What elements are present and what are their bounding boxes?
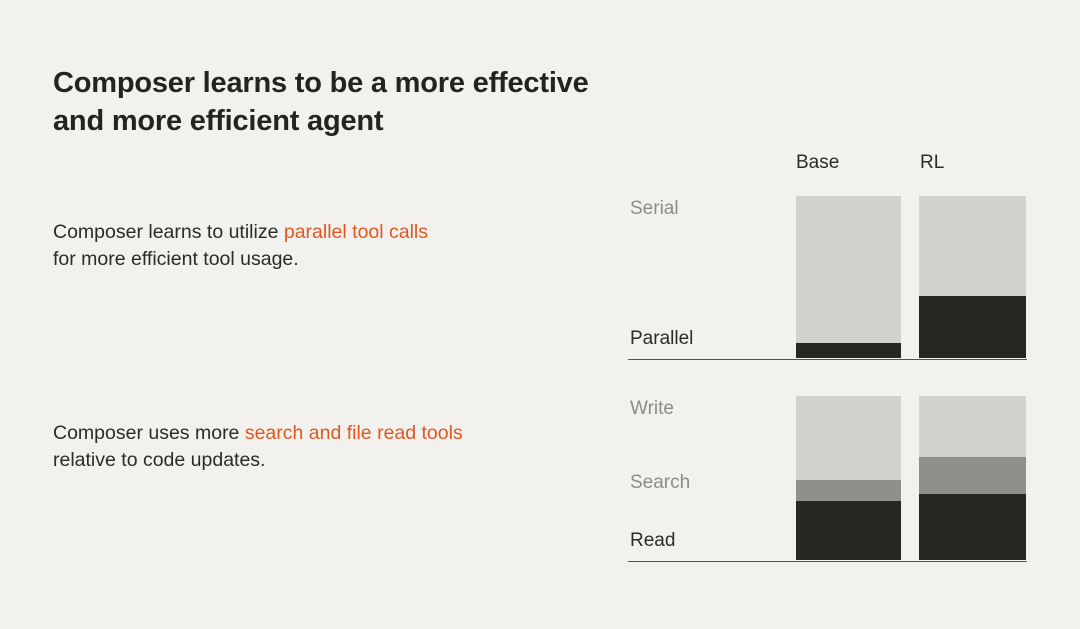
chart2-base-segment-write — [796, 396, 901, 480]
chart1-segment-label-parallel: Parallel — [630, 328, 693, 350]
chart1-bar-rl — [919, 196, 1026, 358]
chart2-segment-label-write: Write — [630, 398, 674, 420]
page-title: Composer learns to be a more effective a… — [53, 65, 693, 139]
chart2-segment-label-read: Read — [630, 530, 675, 552]
page-title-line-1: Composer learns to be a more effective — [53, 67, 589, 99]
paragraph-2-lead: Composer uses more — [53, 422, 245, 444]
chart2-bar-rl — [919, 396, 1026, 560]
chart1-base-segment-serial — [796, 196, 901, 343]
paragraph-2-line-2: relative to code updates. — [53, 449, 265, 471]
chart-tool-call-concurrency: Serial Parallel — [628, 196, 1028, 360]
paragraph-1-line-2: for more efficient tool usage. — [53, 248, 299, 270]
chart2-axis-line — [628, 561, 1027, 563]
chart1-bar-base — [796, 196, 901, 358]
chart1-base-segment-parallel — [796, 343, 901, 358]
slide-canvas: Composer learns to be a more effective a… — [0, 0, 1080, 629]
charts-region: Base RL Serial Parallel Write Searc — [628, 140, 1028, 570]
chart-column-headers: Base RL — [628, 152, 1028, 178]
chart2-rl-segment-search — [919, 457, 1026, 495]
chart1-segment-label-serial: Serial — [630, 198, 679, 220]
description-paragraph-1: Composer learns to utilize parallel tool… — [53, 219, 613, 274]
chart2-bar-base — [796, 396, 901, 560]
column-header-base: Base — [796, 152, 839, 174]
chart1-bars — [796, 196, 1028, 358]
chart2-base-segment-search — [796, 480, 901, 501]
paragraph-2-highlight: search and file read tools — [245, 422, 463, 444]
chart2-rl-segment-write — [919, 396, 1026, 457]
paragraph-1-lead: Composer learns to utilize — [53, 221, 284, 243]
chart2-base-segment-read — [796, 501, 901, 560]
chart2-rl-segment-read — [919, 494, 1026, 560]
chart2-bars — [796, 396, 1028, 560]
paragraph-1-highlight: parallel tool calls — [284, 221, 428, 243]
column-header-rl: RL — [920, 152, 944, 174]
chart1-rl-segment-parallel — [919, 296, 1026, 358]
chart1-rl-segment-serial — [919, 196, 1026, 296]
page-title-line-2: and more efficient agent — [53, 105, 383, 137]
chart-tool-usage-mix: Write Search Read — [628, 396, 1028, 562]
chart1-axis-line — [628, 359, 1027, 361]
chart2-segment-label-search: Search — [630, 472, 690, 494]
description-paragraph-2: Composer uses more search and file read … — [53, 420, 613, 475]
